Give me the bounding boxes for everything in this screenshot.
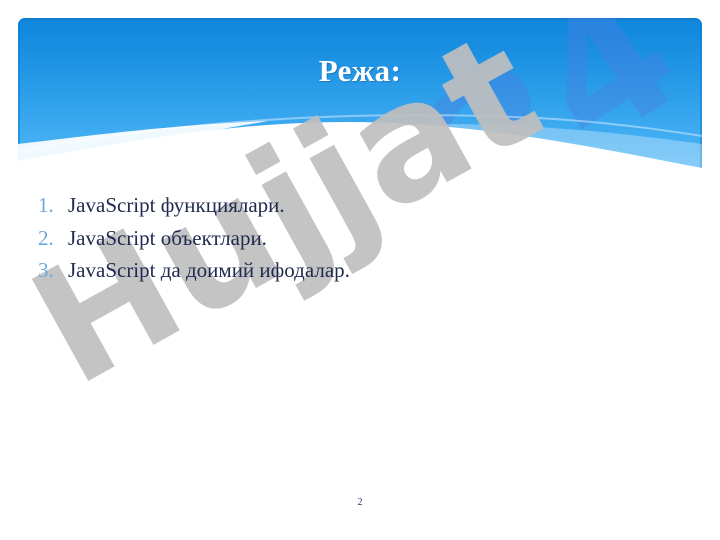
- body-watermark: Hujjat: [0, 120, 720, 540]
- list-item: 1. JavaScript функциялари.: [38, 193, 658, 219]
- agenda-list: 1. JavaScript функциялари. 2. JavaScript…: [38, 193, 658, 291]
- list-item-number: 1.: [38, 193, 68, 219]
- list-item-number: 3.: [38, 258, 68, 284]
- banner-number-watermark: 24: [416, 18, 702, 178]
- list-item: 3. JavaScript да доимий ифодалар.: [38, 258, 658, 284]
- slide-page-number: 2: [0, 497, 720, 508]
- list-item: 2. JavaScript объектлари.: [38, 226, 658, 252]
- header-banner: 24: [18, 18, 702, 178]
- list-item-label: JavaScript объектлари.: [68, 226, 267, 252]
- presentation-slide: 24 Режа: Hujjat 1: [0, 0, 720, 540]
- svg-text:24: 24: [416, 18, 702, 178]
- page-title: Режа:: [0, 53, 720, 89]
- list-item-label: JavaScript функциялари.: [68, 193, 285, 219]
- list-item-number: 2.: [38, 226, 68, 252]
- banner-top-edge: [18, 18, 702, 20]
- banner-right-edge: [700, 18, 702, 178]
- list-item-label: JavaScript да доимий ифодалар.: [68, 258, 350, 284]
- banner-left-edge: [18, 18, 20, 178]
- banner-wave-decoration: [18, 18, 702, 178]
